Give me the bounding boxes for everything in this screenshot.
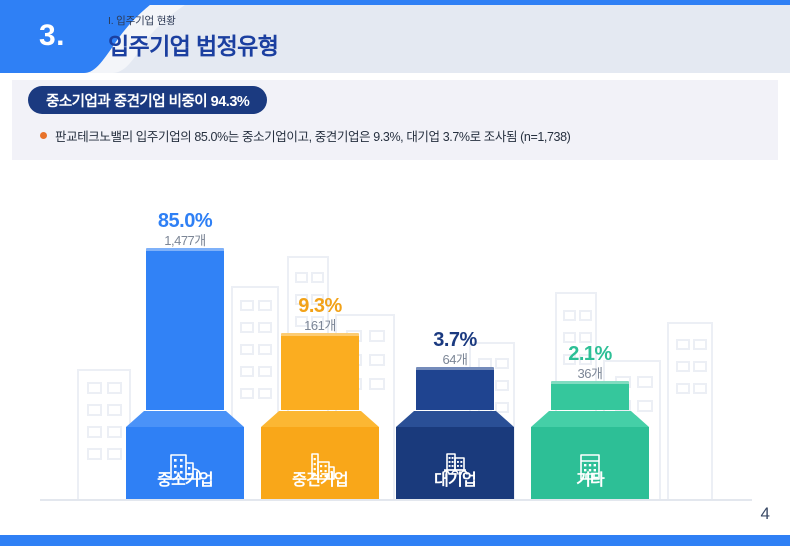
slide: 3. I. 입주기업 현황 입주기업 법정유형 중소기업과 중견기업 비중이 9…: [0, 0, 790, 546]
bar-count-4: 36개: [531, 366, 649, 382]
chart-baseline: [40, 499, 752, 501]
bar-category-label-1: 중소기업: [126, 466, 244, 490]
bar-stem-highlight-3: [416, 367, 494, 370]
bar-pedestal-body-2: 중견기업: [261, 427, 379, 499]
bar-percent-4: 2.1%: [531, 344, 649, 365]
bar-category-label-2: 중견기업: [261, 466, 379, 490]
bar-pedestal-1: 중소기업: [126, 411, 244, 499]
bar-stem-highlight-1: [146, 248, 224, 251]
bar-pedestal-cap-4: [531, 411, 649, 427]
bullet-dot-icon: [40, 132, 47, 139]
bar-stem-1: [146, 248, 224, 410]
bar-pedestal-cap-3: [396, 411, 514, 427]
section-kicker: I. 입주기업 현황: [108, 13, 176, 28]
summary-badge-label: 중소기업과 중견기업 비중이 94.3%: [46, 90, 249, 111]
bar-pedestal-2: 중견기업: [261, 411, 379, 499]
bar-stem-2: [281, 333, 359, 410]
cityscape-watermark-icon: [0, 165, 790, 510]
bar-count-2: 161개: [261, 318, 379, 334]
bar-chart: 85.0% 1,477개: [0, 165, 790, 510]
bar-pedestal-cap-1: [126, 411, 244, 427]
bar-category-label-4: 기타: [531, 466, 649, 490]
summary-badge: 중소기업과 중견기업 비중이 94.3%: [28, 86, 267, 114]
bar-stem-highlight-4: [551, 381, 629, 384]
bar-percent-3: 3.7%: [396, 330, 514, 351]
bar-value-2: 9.3% 161개: [261, 296, 379, 334]
summary-bullet: 판교테크노밸리 입주기업의 85.0%는 중소기업이고, 중견기업은 9.3%,…: [40, 126, 570, 145]
bar-percent-2: 9.3%: [261, 296, 379, 317]
bottom-accent-rule: [0, 535, 790, 546]
bar-percent-1: 85.0%: [126, 211, 244, 232]
bar-pedestal-3: 대기업: [396, 411, 514, 499]
bar-value-1: 85.0% 1,477개: [126, 211, 244, 249]
bar-stem-3: [416, 367, 494, 410]
bar-pedestal-body-3: 대기업: [396, 427, 514, 499]
page-number: 4: [761, 504, 770, 524]
bar-value-4: 2.1% 36개: [531, 344, 649, 382]
bar-stem-4: [551, 381, 629, 410]
bar-stem-highlight-2: [281, 333, 359, 336]
bar-pedestal-body-1: 중소기업: [126, 427, 244, 499]
page-title: 입주기업 법정유형: [108, 27, 278, 61]
bar-value-3: 3.7% 64개: [396, 330, 514, 368]
slide-header: 3. I. 입주기업 현황 입주기업 법정유형: [0, 5, 790, 73]
bar-pedestal-4: 기타: [531, 411, 649, 499]
bar-category-label-3: 대기업: [396, 466, 514, 490]
bar-count-1: 1,477개: [126, 233, 244, 249]
section-number: 3.: [22, 13, 82, 59]
bar-count-3: 64개: [396, 352, 514, 368]
bar-pedestal-body-4: 기타: [531, 427, 649, 499]
summary-bullet-text: 판교테크노밸리 입주기업의 85.0%는 중소기업이고, 중견기업은 9.3%,…: [55, 126, 570, 145]
bar-pedestal-cap-2: [261, 411, 379, 427]
